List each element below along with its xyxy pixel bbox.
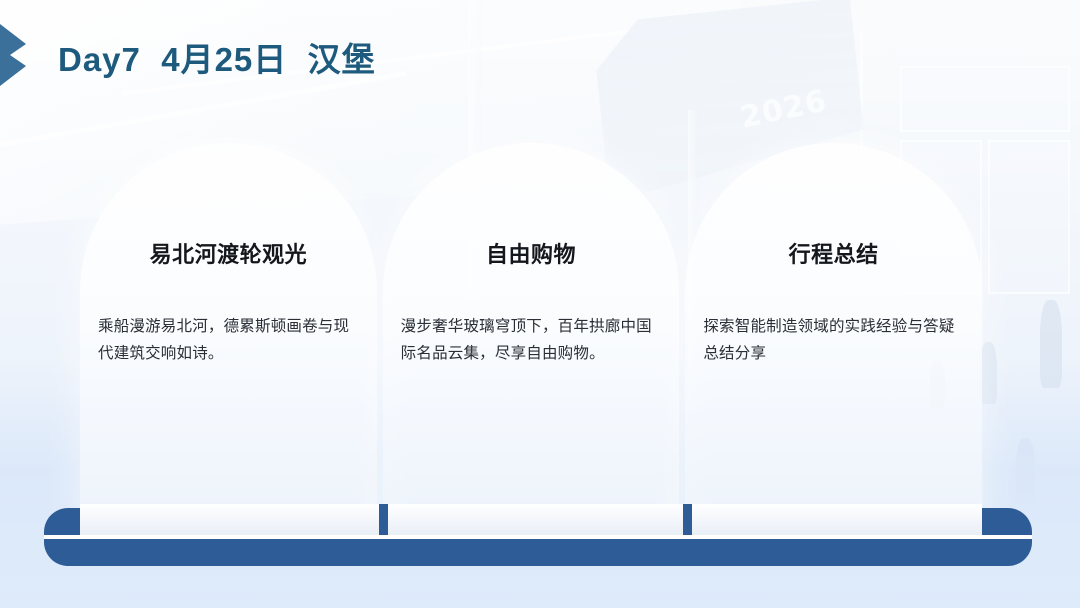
card-title: 易北河渡轮观光 — [80, 237, 377, 269]
platform-shelf — [80, 504, 982, 536]
platform-divider — [379, 504, 388, 536]
card-row: 易北河渡轮观光 乘船漫游易北河，德累斯顿画卷与现代建筑交响如诗。 自由购物 漫步… — [80, 143, 982, 538]
card-body: 探索智能制造领域的实践经验与答疑总结分享 — [703, 313, 964, 367]
info-card[interactable]: 自由购物 漫步奢华玻璃穹顶下，百年拱廊中国际名品云集，尽享自由购物。 — [383, 143, 680, 538]
card-body: 漫步奢华玻璃穹顶下，百年拱廊中国际名品云集，尽享自由购物。 — [401, 313, 662, 367]
card-body: 乘船漫游易北河，德累斯顿画卷与现代建筑交响如诗。 — [98, 313, 359, 367]
info-card[interactable]: 易北河渡轮观光 乘船漫游易北河，德累斯顿画卷与现代建筑交响如诗。 — [80, 143, 377, 538]
page-title: Day7 4月25日 汉堡 — [58, 33, 376, 81]
card-title: 行程总结 — [685, 237, 982, 269]
platform-divider — [683, 504, 692, 536]
slide-canvas: 2026 Day7 4月25日 汉堡 易北河渡轮观光 乘船漫游易北河，德累斯顿画… — [0, 0, 1080, 608]
platform-groove-line — [44, 535, 1032, 539]
card-title: 自由购物 — [383, 237, 680, 269]
info-card[interactable]: 行程总结 探索智能制造领域的实践经验与答疑总结分享 — [685, 143, 982, 538]
double-chevron-right-icon — [0, 22, 40, 88]
